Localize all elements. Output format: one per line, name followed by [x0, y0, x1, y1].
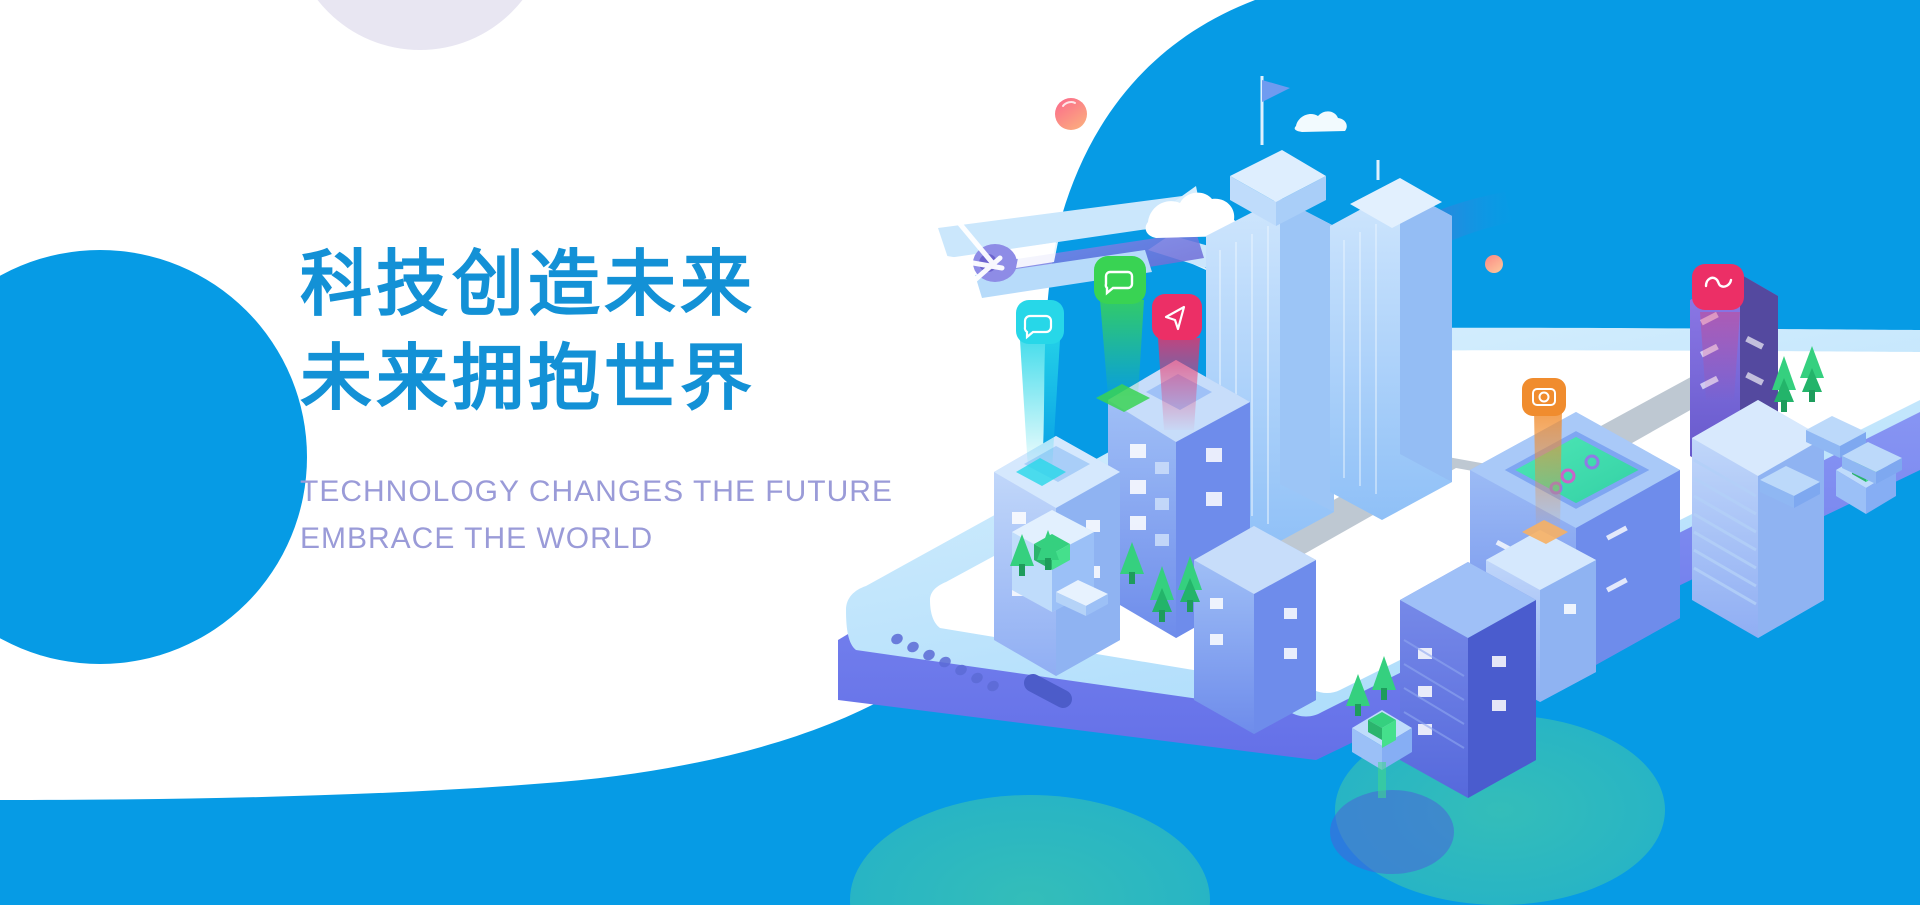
headline-line-1: 科技创造未来 — [300, 238, 940, 332]
beacon-magenta-tile — [1692, 264, 1744, 310]
beacon-pink-tile — [1152, 294, 1202, 340]
subtitle-block: TECHNOLOGY CHANGES THE FUTURE EMBRACE TH… — [300, 469, 940, 562]
isometric-city-illustration — [0, 0, 1920, 905]
copy-block: 科技创造未来 未来拥抱世界 TECHNOLOGY CHANGES THE FUT… — [300, 238, 940, 562]
flag-tower-right — [1280, 198, 1334, 512]
beacon-orange-tile — [1522, 378, 1566, 416]
subtitle-line-2: EMBRACE THE WORLD — [300, 516, 940, 563]
beacon-magenta-beam — [1700, 312, 1740, 400]
sphere-small-right — [1485, 255, 1503, 273]
front-dark-tower — [1400, 562, 1536, 798]
beacon-cyan-tile — [1016, 300, 1064, 344]
green-cube-bottom — [1352, 710, 1412, 798]
headline-line-2: 未来拥抱世界 — [300, 332, 940, 426]
flag — [1262, 80, 1290, 102]
glass-tower-right — [1330, 160, 1452, 520]
banner-root: 科技创造未来 未来拥抱世界 TECHNOLOGY CHANGES THE FUT… — [0, 0, 1920, 905]
beacon-green-tile — [1094, 256, 1146, 304]
beacon-green-beam — [1100, 300, 1144, 396]
beacon-orange-beam — [1534, 408, 1562, 530]
subtitle-line-1: TECHNOLOGY CHANGES THE FUTURE — [300, 469, 940, 516]
beacon-pink-beam — [1158, 338, 1200, 430]
striped-tower — [1692, 400, 1824, 638]
cloud-small-top-icon — [1295, 111, 1347, 132]
front-center-tower — [1194, 526, 1316, 734]
